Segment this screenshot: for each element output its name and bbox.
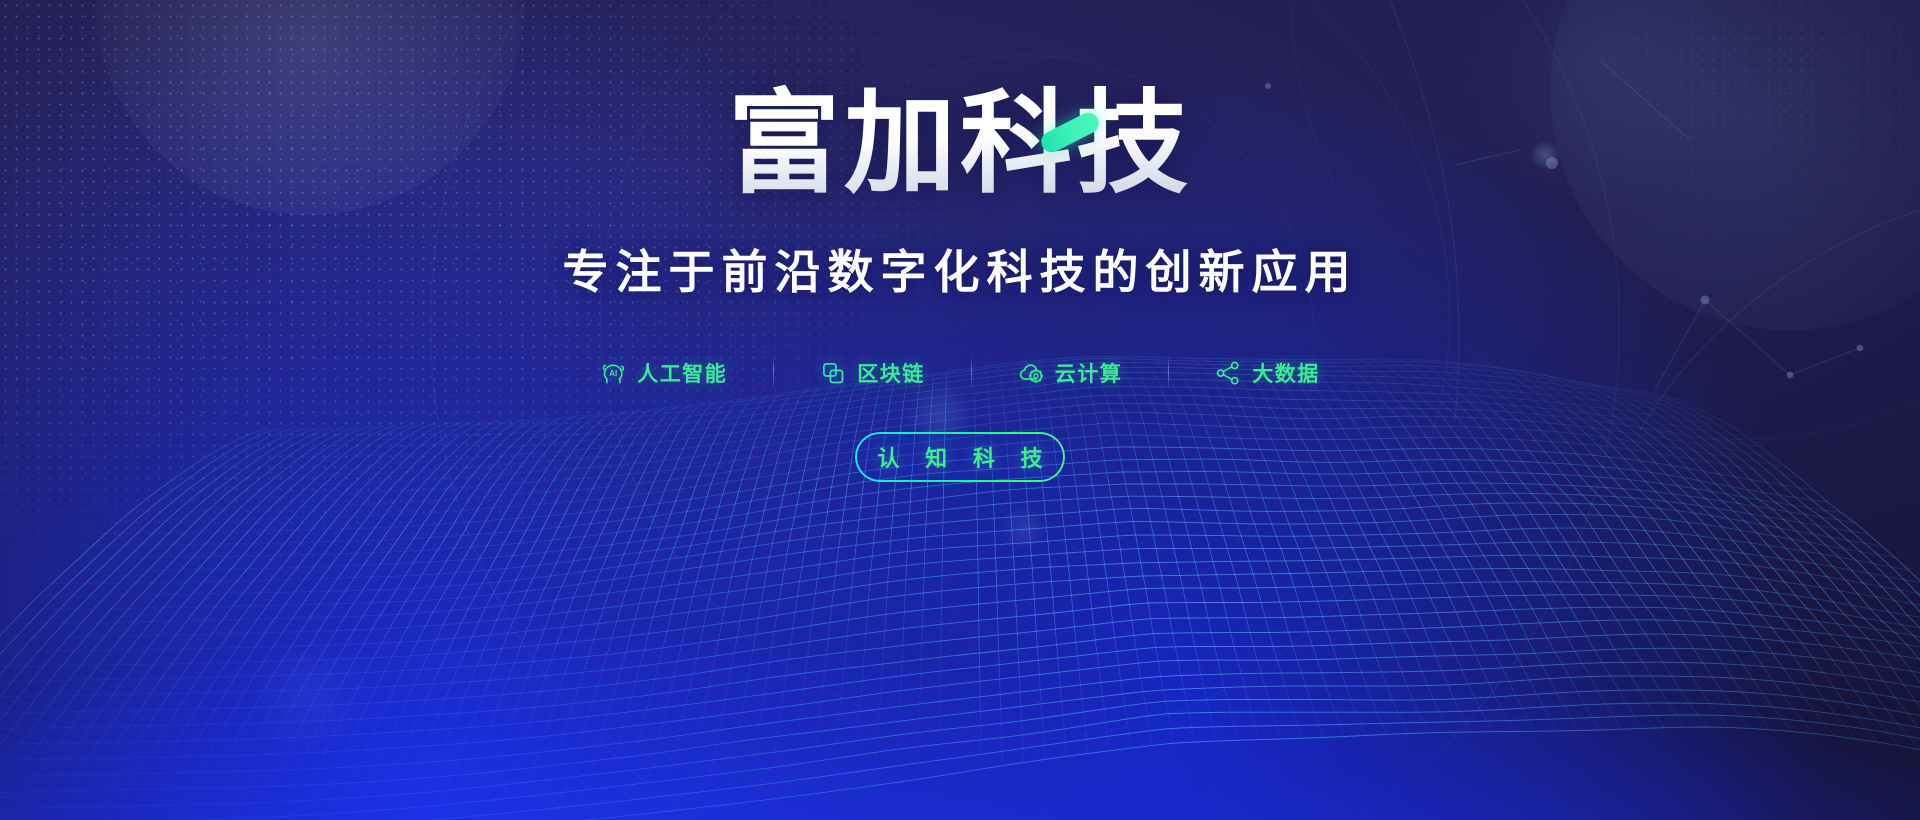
hero-subtitle: 专注于前沿数字化科技的创新应用	[563, 236, 1358, 302]
feature-tag-blockchain[interactable]: 区块链	[774, 358, 971, 388]
cognitive-tech-button[interactable]: 认 知 科 技	[855, 432, 1065, 482]
feature-tag-label: 人工智能	[637, 358, 727, 388]
ai-head-icon: AI	[600, 360, 626, 386]
feature-tag-cloud[interactable]: 云计算	[972, 358, 1169, 388]
feature-tag-label: 区块链	[857, 358, 925, 388]
feature-tag-label: 大数据	[1252, 358, 1320, 388]
feature-tag-list: AI 人工智能 区块链	[554, 356, 1366, 390]
cloud-gear-icon	[1018, 360, 1044, 386]
cta-container: 认 知 科 技	[855, 432, 1065, 482]
share-nodes-icon	[1215, 360, 1241, 386]
feature-tag-bigdata[interactable]: 大数据	[1169, 358, 1366, 388]
cta-label: 认 知 科 技	[869, 441, 1052, 473]
feature-tag-ai[interactable]: AI 人工智能	[554, 358, 773, 388]
brand-title: 富加科技	[728, 78, 1192, 210]
blockchain-blocks-icon	[820, 360, 846, 386]
svg-text:AI: AI	[609, 369, 617, 378]
feature-tag-label: 云计算	[1055, 358, 1123, 388]
hero-banner: 富加科技 专注于前沿数字化科技的创新应用 AI 人工智能 区	[0, 0, 1920, 820]
hero-content: 富加科技 专注于前沿数字化科技的创新应用 AI 人工智能 区	[0, 0, 1920, 820]
